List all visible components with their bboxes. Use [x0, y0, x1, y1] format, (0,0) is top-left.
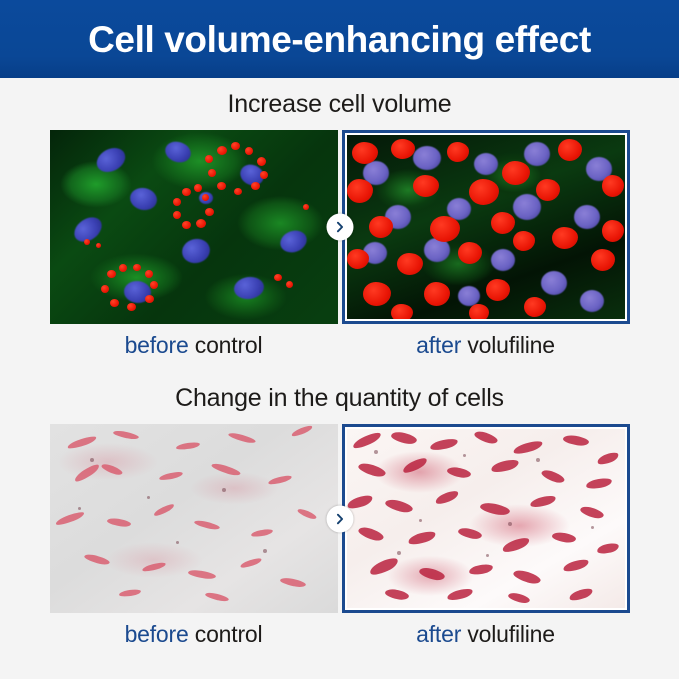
caption-quantity-after: after volufiline	[342, 621, 630, 648]
panel-volume-before[interactable]	[50, 130, 338, 324]
caption-volume-after: after volufiline	[342, 332, 630, 359]
caption-row-quantity: before control after volufiline	[50, 613, 630, 655]
chevron-right-icon-volume[interactable]	[326, 214, 353, 241]
fluorescence-micrograph-after	[347, 135, 625, 319]
caption-product-control: control	[195, 332, 263, 358]
fluorescence-micrograph-before	[50, 130, 338, 324]
histology-micrograph-after	[347, 429, 625, 608]
header-banner: Cell volume-enhancing effect	[0, 0, 679, 78]
caption-state-before: before	[125, 621, 189, 647]
caption-product-volufiline: volufiline	[467, 621, 555, 647]
section-change-in-quantity-of-cells: Change in the quantity of cells	[0, 372, 679, 655]
caption-volume-before: before control	[50, 332, 338, 359]
caption-row-volume: before control after volufiline	[50, 324, 630, 366]
comparison-pair-quantity	[50, 424, 630, 613]
caption-quantity-before: before control	[50, 621, 338, 648]
panel-volume-after[interactable]	[342, 130, 630, 324]
page-title: Cell volume-enhancing effect	[88, 21, 591, 58]
histology-micrograph-before	[50, 424, 338, 613]
section-title-change-in-quantity-of-cells: Change in the quantity of cells	[0, 372, 679, 424]
caption-product-control: control	[195, 621, 263, 647]
panel-quantity-before[interactable]	[50, 424, 338, 613]
caption-state-before: before	[125, 332, 189, 358]
section-title-increase-cell-volume: Increase cell volume	[0, 78, 679, 130]
caption-product-volufiline: volufiline	[467, 332, 555, 358]
section-increase-cell-volume: Increase cell volume	[0, 78, 679, 366]
caption-state-after: after	[416, 332, 461, 358]
caption-state-after: after	[416, 621, 461, 647]
chevron-right-icon-quantity[interactable]	[326, 505, 353, 532]
comparison-pair-volume	[50, 130, 630, 324]
panel-quantity-after[interactable]	[342, 424, 630, 613]
